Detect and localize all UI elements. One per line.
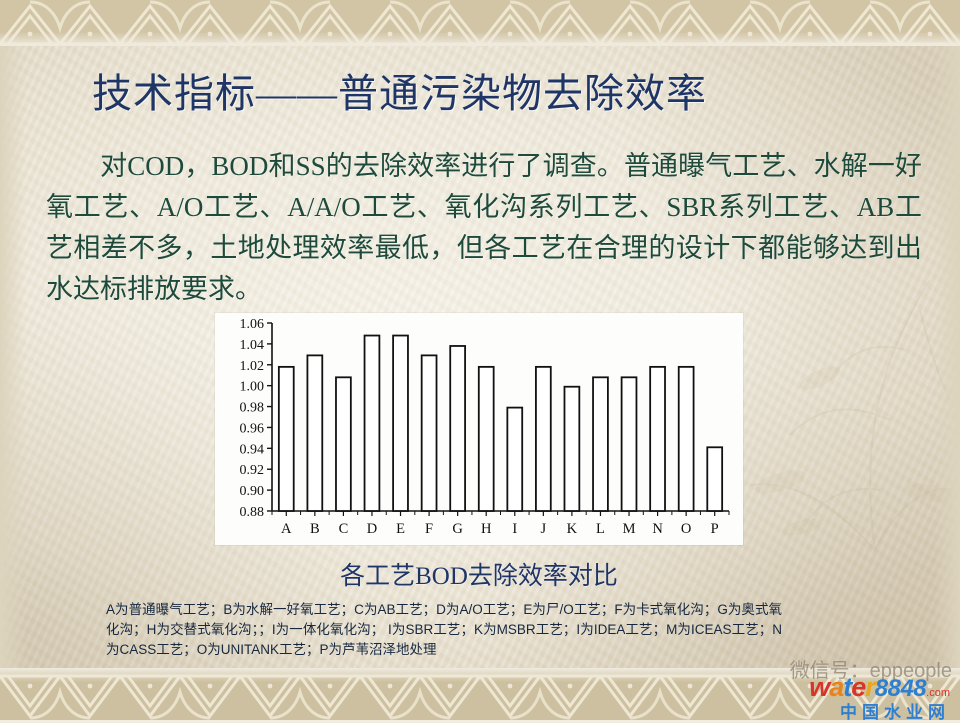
svg-text:M: M: [623, 521, 636, 537]
svg-text:1.02: 1.02: [240, 359, 265, 374]
svg-text:C: C: [339, 521, 349, 537]
slide-background: 技术指标——普通污染物去除效率 对COD，BOD和SS的去除效率进行了调查。普通…: [0, 0, 960, 720]
chart-caption: 各工艺BOD去除效率对比: [215, 556, 743, 592]
svg-text:0.96: 0.96: [240, 421, 265, 436]
svg-text:0.88: 0.88: [240, 505, 265, 520]
svg-text:P: P: [711, 521, 719, 537]
svg-text:H: H: [481, 521, 492, 537]
svg-text:N: N: [652, 521, 663, 537]
svg-text:G: G: [452, 521, 463, 537]
left-edge-shade: [0, 46, 26, 668]
chart-svg: 0.880.900.920.940.960.981.001.021.041.06…: [215, 313, 743, 545]
svg-text:A: A: [281, 521, 292, 537]
top-ornament-band: [0, 0, 960, 46]
right-edge-shade: [934, 46, 960, 668]
svg-text:K: K: [567, 521, 578, 537]
chart-legend-footnote: A为普通曝气工艺；B为水解一好氧工艺；C为AB工艺；D为A/O工艺；E为尸/O工…: [106, 600, 782, 660]
watermark-site-name: 中国水业网: [840, 698, 950, 723]
svg-text:I: I: [512, 521, 517, 537]
logo-letter-w: w: [809, 672, 829, 702]
svg-text:0.90: 0.90: [240, 484, 265, 499]
slide-title: 技术指标——普通污染物去除效率: [92, 72, 707, 117]
watermark: 微信号：eppeople water8848.com 中国水业网: [704, 652, 954, 716]
svg-text:1.06: 1.06: [240, 317, 265, 332]
svg-text:B: B: [310, 521, 320, 537]
svg-text:O: O: [681, 521, 691, 537]
body-paragraph: 对COD，BOD和SS的去除效率进行了调查。普通曝气工艺、水解一好氧工艺、A/O…: [46, 146, 922, 310]
body-paragraph-text: 对COD，BOD和SS的去除效率进行了调查。普通曝气工艺、水解一好氧工艺、A/O…: [46, 151, 922, 304]
chart-plot-area: 0.880.900.920.940.960.981.001.021.041.06…: [215, 313, 743, 545]
top-band-fade: [0, 32, 960, 46]
svg-text:0.92: 0.92: [240, 463, 265, 478]
svg-text:1.00: 1.00: [240, 380, 265, 395]
svg-text:D: D: [367, 521, 377, 537]
svg-text:J: J: [541, 521, 547, 537]
svg-text:L: L: [596, 521, 605, 537]
svg-text:F: F: [425, 521, 433, 537]
svg-text:1.04: 1.04: [240, 338, 265, 353]
svg-text:0.94: 0.94: [240, 442, 265, 457]
bod-removal-bar-chart: 0.880.900.920.940.960.981.001.021.041.06…: [215, 313, 743, 545]
svg-text:E: E: [396, 521, 405, 537]
svg-text:0.98: 0.98: [240, 401, 265, 416]
